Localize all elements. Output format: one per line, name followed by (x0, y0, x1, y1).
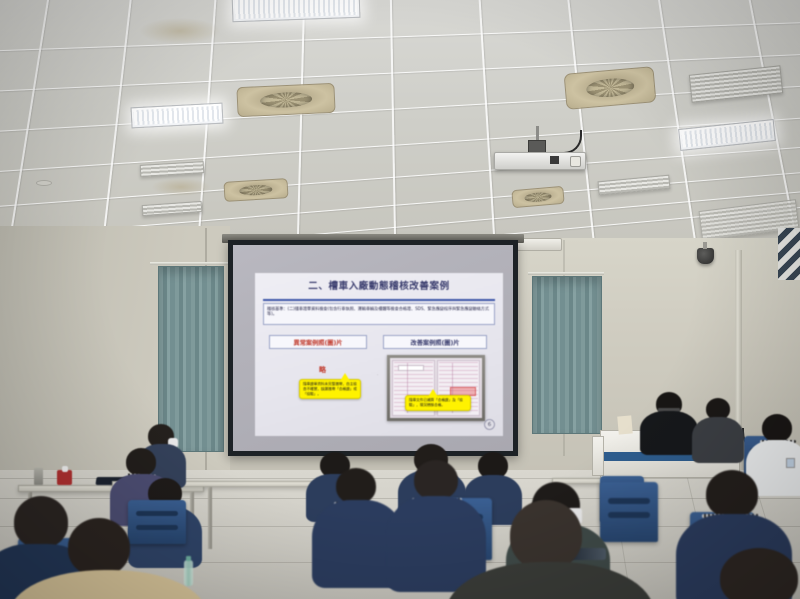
smoke-detector-icon (36, 180, 52, 186)
curtain-left (158, 266, 224, 452)
callout-abnormal: 隨車證單資料未完整攜帶，自主檢查不確實，缺漏攜帶「合格證」或「檢驗」。 (299, 379, 361, 399)
wall-banner (778, 228, 800, 280)
cup (34, 468, 43, 485)
ac-vent (142, 201, 203, 216)
projector-port (550, 156, 559, 164)
torso (692, 417, 744, 463)
head (706, 470, 758, 518)
slide-title-area: 二、槽車入廠動態稽核改善案例 (265, 280, 493, 300)
ceiling-fan-diffuser (511, 186, 564, 208)
projection-screen-frame: 二、槽車入廠動態稽核改善案例 稽核基準：(二)隨車證單資料檢查(包含行車執照、運… (228, 240, 518, 456)
curtain-right (532, 276, 602, 434)
slide-title-rule (263, 299, 495, 301)
improved-case-photo (387, 355, 485, 421)
suspended-ceiling (0, 0, 800, 252)
podium-side-panel (592, 436, 604, 476)
head (414, 460, 458, 500)
wall-conduit-pipe (735, 250, 742, 446)
omit-mark: 略 (319, 365, 326, 375)
table-leg (208, 487, 212, 549)
slide-number: 6 (484, 419, 495, 430)
callout-tail (428, 389, 438, 397)
red-box (57, 470, 72, 485)
ceiling-light-panel (131, 103, 224, 129)
improved-case-header-label: 改善案例照(圖)片 (411, 338, 460, 347)
abnormal-case-header-label: 異常案例照(圖)片 (294, 338, 343, 347)
presenter-torso (640, 411, 698, 455)
head (762, 414, 792, 442)
callout-improved-text: 隨車文件已補齊「合格證」及「檢驗」，現況稽核合格。 (409, 398, 467, 408)
slide-cursor-dot: . (377, 371, 378, 376)
ceiling-fan-diffuser (236, 83, 335, 117)
slide-criteria-box: 稽核基準：(二)隨車證單資料檢查(包含行車執照、運輸車輛及槽體等檢查合格證、SD… (263, 303, 495, 325)
abnormal-case-header: 異常案例照(圖)片 (269, 335, 367, 349)
callout-improved: 隨車文件已補齊「合格證」及「檢驗」，現況稽核合格。 (405, 395, 471, 411)
head (14, 496, 68, 548)
ceiling-fan-diffuser (564, 66, 657, 110)
ceiling-light-panel (232, 0, 361, 22)
curtain-rod (150, 262, 228, 265)
head (336, 468, 376, 504)
document-blank-field (398, 365, 424, 371)
improved-case-header: 改善案例照(圖)片 (383, 335, 487, 349)
slide-title: 二、槽車入廠動態稽核改善案例 (265, 280, 493, 294)
chair (128, 500, 186, 544)
callout-tail (340, 373, 350, 381)
chair (600, 482, 658, 542)
badge (786, 458, 795, 468)
ceiling-projector (494, 140, 586, 170)
slide-criteria-text: 稽核基準：(二)隨車證單資料檢查(包含行車執照、運輸車輛及槽體等檢查合格證、SD… (267, 306, 491, 317)
wall-speaker (697, 248, 714, 264)
callout-abnormal-text: 隨車證單資料未完整攜帶，自主檢查不確實，缺漏攜帶「合格證」或「檢驗」。 (303, 382, 357, 396)
water-bottle (184, 560, 193, 586)
head (126, 448, 156, 476)
ceiling-fan-diffuser (223, 178, 288, 202)
head (510, 500, 582, 570)
projector-lens (570, 156, 581, 167)
projection-screen-surface: 二、槽車入廠動態稽核改善案例 稽核基準：(二)隨車證單資料檢查(包含行車執照、運… (233, 245, 513, 451)
ac-vent (140, 161, 205, 177)
podium-paper (617, 415, 633, 434)
ac-vent (598, 175, 671, 196)
presentation-slide: 二、槽車入廠動態稽核改善案例 稽核基準：(二)隨車證單資料檢查(包含行車執照、運… (255, 273, 503, 436)
lecture-room-photo: 二、槽車入廠動態稽核改善案例 稽核基準：(二)隨車證單資料檢查(包含行車執照、運… (0, 0, 800, 599)
head (720, 548, 798, 599)
curtain-rod (528, 272, 604, 275)
head (68, 518, 130, 576)
